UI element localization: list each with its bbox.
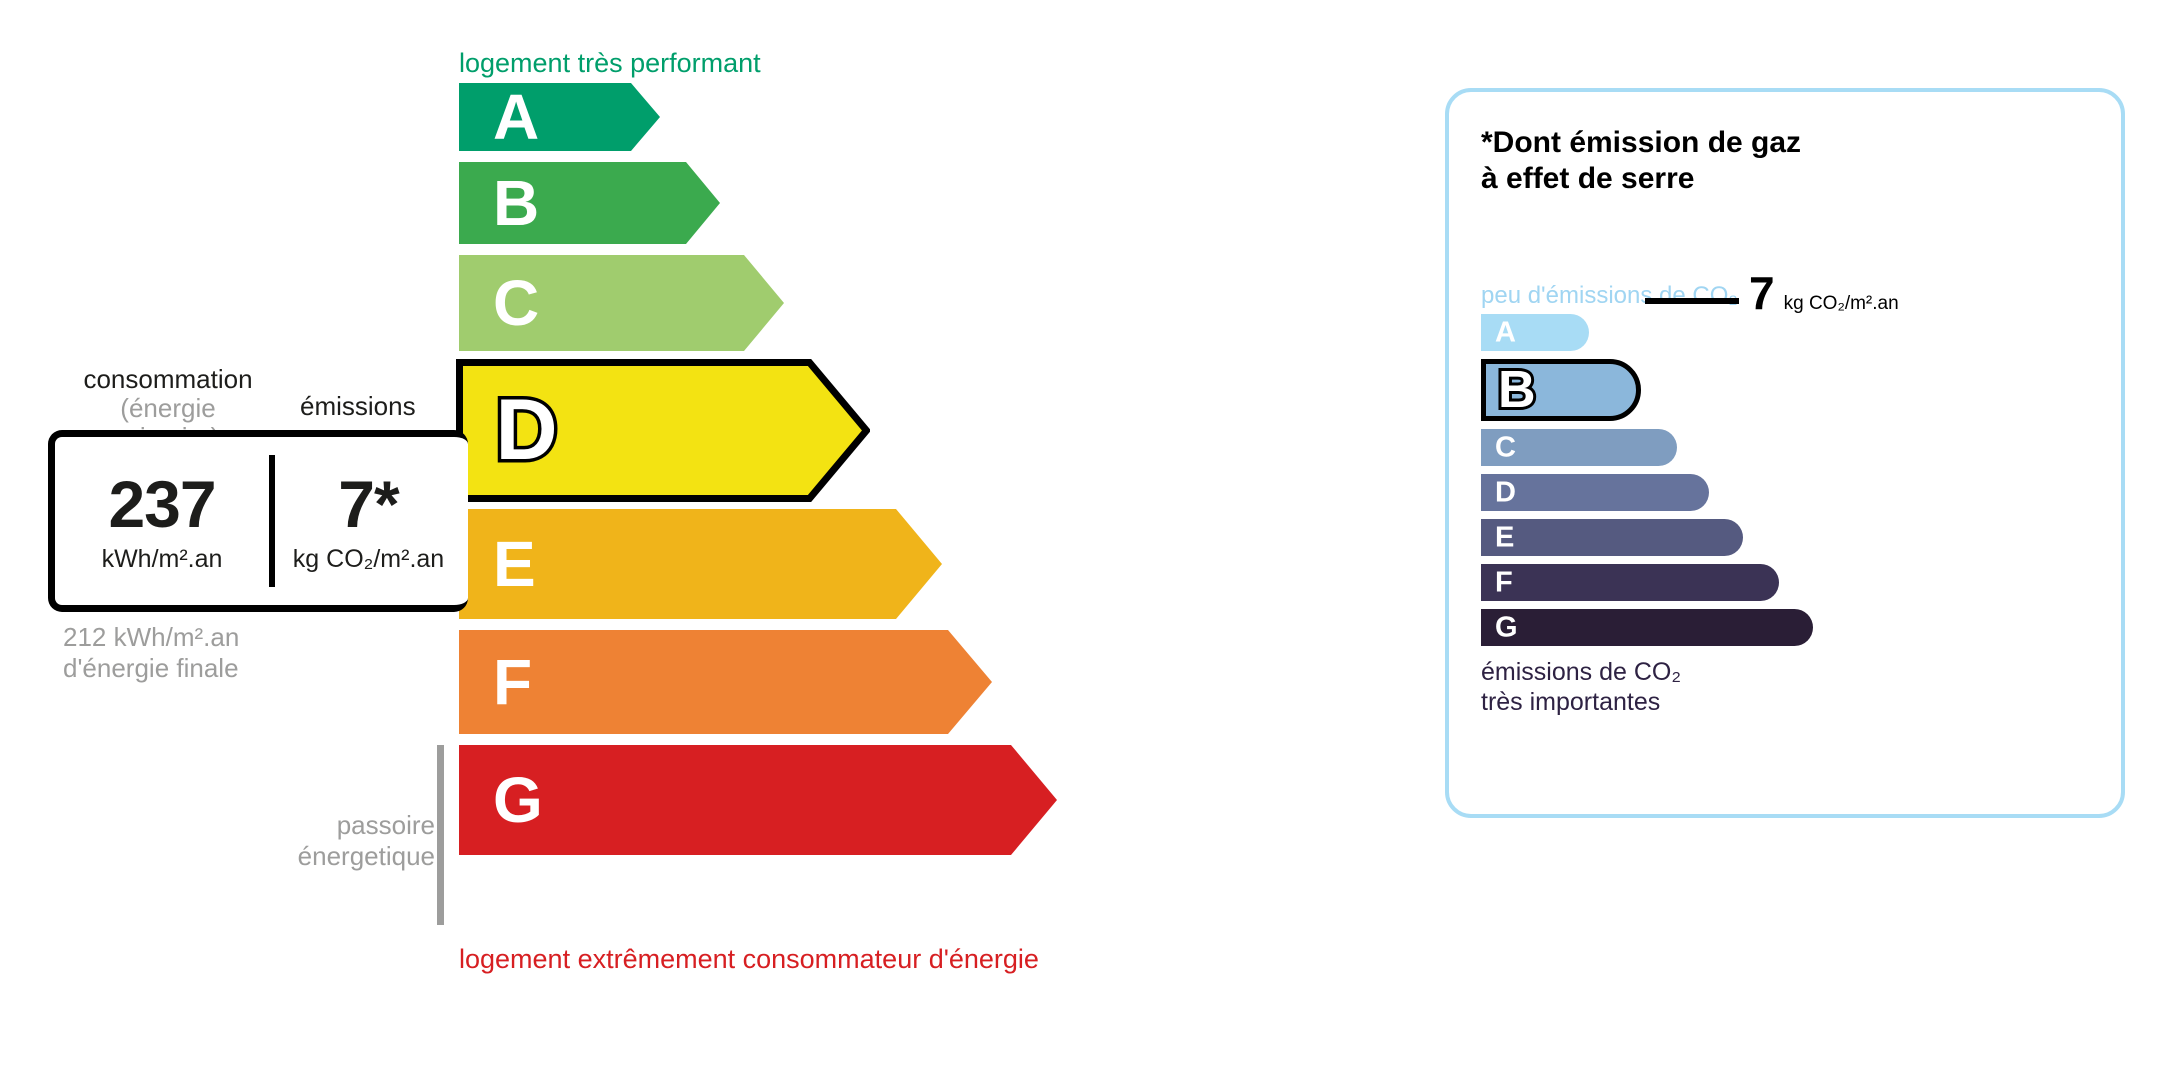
ges-title-line1: *Dont émission de gaz	[1481, 125, 1801, 161]
ges-value: 7	[1749, 270, 1775, 316]
ges-value-readout: 7 kg CO₂/m².an	[1749, 270, 1899, 316]
ges-bar-row-g: G	[1481, 609, 1813, 646]
energy-band-b: B	[459, 162, 720, 244]
energy-band-c: C	[459, 255, 784, 351]
energy-band-a: A	[459, 83, 660, 151]
emission-value: 7*	[338, 471, 398, 537]
ges-bar-b: B	[1481, 359, 1641, 421]
energy-band-shape-g	[459, 745, 1057, 855]
ges-bar-letter-b: B	[1498, 364, 1536, 416]
ges-bar-row-b: B	[1481, 359, 1641, 421]
ges-bar-d: D	[1481, 474, 1709, 511]
ges-bar-row-a: A	[1481, 314, 1589, 351]
ges-bar-row-f: F	[1481, 564, 1779, 601]
energy-band-e: E	[459, 509, 942, 619]
ges-bar-row-c: C	[1481, 429, 1677, 466]
consumption-label-line1: consommation	[68, 365, 268, 394]
energy-band-shape-d	[456, 359, 870, 502]
energy-band-shape-c	[459, 255, 784, 351]
consumption-value: 237	[108, 471, 215, 537]
emission-value-cell: 7* kg CO₂/m².an	[269, 437, 468, 605]
energy-band-shape-f	[459, 630, 992, 734]
ges-co2-panel: *Dont émission de gaz à effet de serre p…	[1445, 88, 2125, 818]
ges-bar-row-d: D	[1481, 474, 1709, 511]
ges-bar-e: E	[1481, 519, 1743, 556]
energy-top-caption: logement très performant	[459, 48, 761, 79]
final-energy-line2: d'énergie finale	[63, 653, 239, 684]
consumption-value-cell: 237 kWh/m².an	[55, 437, 269, 605]
ges-bottom-line2: très importantes	[1481, 687, 1681, 717]
passoire-indicator-bar	[437, 745, 444, 925]
emission-unit: kg CO₂/m².an	[293, 547, 444, 572]
energy-band-g: G	[459, 745, 1057, 855]
ges-unit: kg CO₂/m².an	[1784, 293, 1899, 315]
passoire-line1: passoire	[255, 810, 435, 841]
ges-bar-f: F	[1481, 564, 1779, 601]
ges-title-line2: à effet de serre	[1481, 161, 1801, 197]
ges-bottom-caption: émissions de CO₂ très importantes	[1481, 657, 1681, 717]
ges-top-caption: peu d'émissions de CO₂	[1481, 282, 1738, 310]
ges-bar-g: G	[1481, 609, 1813, 646]
ges-leader-line	[1645, 298, 1739, 304]
emissions-label: émissions	[300, 392, 416, 421]
ges-panel-title: *Dont émission de gaz à effet de serre	[1481, 125, 1801, 197]
energy-band-d: D	[456, 359, 870, 502]
energy-band-shape-a	[459, 83, 660, 151]
value-readout-box: 237 kWh/m².an 7* kg CO₂/m².an	[48, 430, 468, 612]
passoire-line2: énergetique	[255, 841, 435, 872]
ges-bar-a: A	[1481, 314, 1589, 351]
ges-bar-letter-f: F	[1495, 568, 1513, 597]
ges-bar-letter-c: C	[1495, 433, 1516, 462]
energy-band-f: F	[459, 630, 992, 734]
final-energy-line1: 212 kWh/m².an	[63, 622, 239, 653]
ges-bottom-line1: émissions de CO₂	[1481, 657, 1681, 687]
ges-bar-letter-e: E	[1495, 523, 1514, 552]
ges-bar-row-e: E	[1481, 519, 1743, 556]
energy-bottom-caption: logement extrêmement consommateur d'éner…	[459, 944, 1039, 975]
final-energy-label: 212 kWh/m².an d'énergie finale	[63, 622, 239, 684]
ges-bar-c: C	[1481, 429, 1677, 466]
passoire-label: passoire énergetique	[255, 810, 435, 872]
ges-bar-letter-g: G	[1495, 613, 1518, 642]
consumption-unit: kWh/m².an	[102, 547, 223, 572]
ges-bar-letter-a: A	[1495, 318, 1516, 347]
dpe-energy-panel: logement très performant ABCDEFG consomm…	[0, 0, 1400, 1079]
energy-band-shape-b	[459, 162, 720, 244]
ges-bar-letter-d: D	[1495, 478, 1516, 507]
energy-band-shape-e	[459, 509, 942, 619]
